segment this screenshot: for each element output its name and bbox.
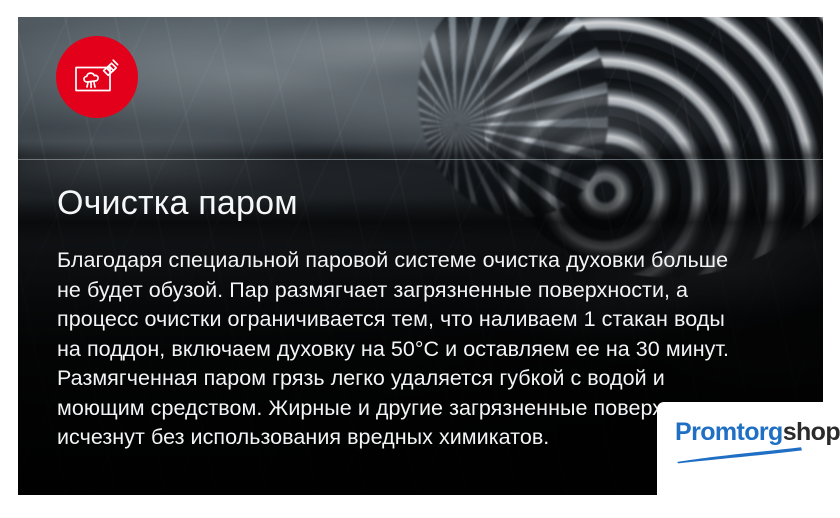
- banner-description: Благодаря специальной паровой системе оч…: [57, 246, 747, 453]
- logo-text-primary: Promtorg: [675, 418, 783, 446]
- logo-wordmark: Promtorgshop: [675, 420, 825, 445]
- promtorgshop-logo[interactable]: Promtorgshop: [657, 402, 840, 518]
- logo-text-secondary: shop: [783, 418, 840, 446]
- page-root: Очистка паром Благодаря специальной паро…: [0, 0, 840, 518]
- logo-mark: Promtorgshop: [675, 420, 825, 464]
- logo-swoosh-icon: [675, 446, 825, 464]
- steam-clean-icon: [73, 57, 121, 97]
- header-divider: [18, 159, 823, 160]
- feature-badge: [56, 36, 138, 118]
- page-title: Очистка паром: [57, 185, 813, 222]
